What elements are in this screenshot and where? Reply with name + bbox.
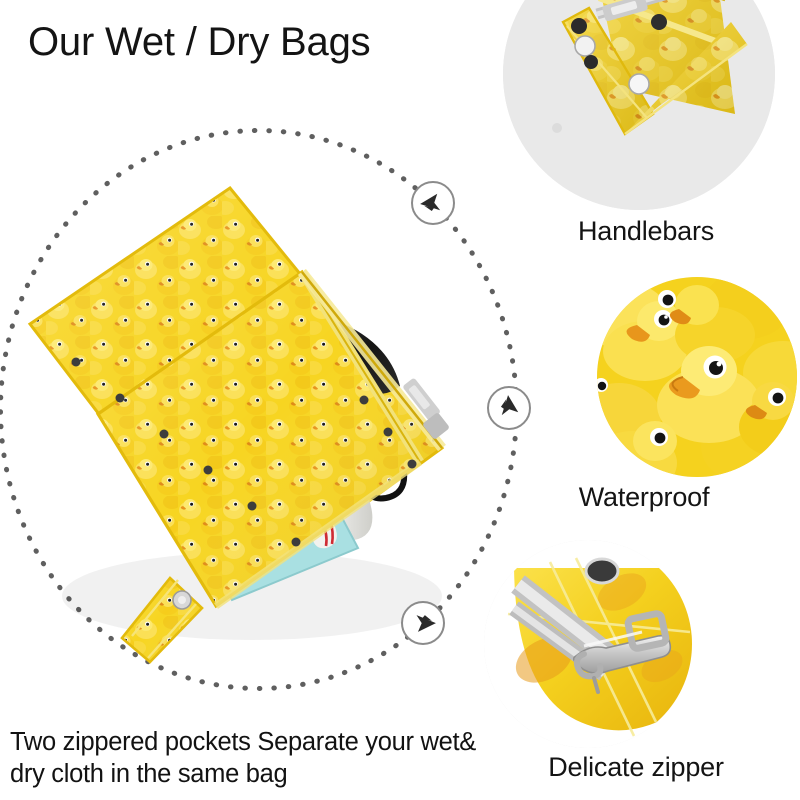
detail-circle-zipper — [484, 540, 692, 748]
grommet — [586, 559, 618, 584]
marker-zipper[interactable] — [401, 601, 445, 645]
hero-caption: Two zippered pockets Separate your wet& … — [10, 726, 510, 790]
detail-circle-waterproof — [597, 277, 797, 477]
product-infographic: Our Wet / Dry Bags — [0, 0, 800, 800]
feature-label-delicate-zipper: Delicate zipper — [502, 752, 770, 783]
cursor-arrow-icon — [420, 189, 447, 215]
cursor-arrow-icon — [409, 610, 436, 637]
product-hero-image — [2, 176, 458, 664]
marker-handlebars[interactable] — [411, 181, 455, 225]
feature-label-handlebars: Handlebars — [531, 216, 761, 247]
page-title: Our Wet / Dry Bags — [28, 20, 370, 65]
marker-waterproof[interactable] — [487, 386, 531, 430]
detail-circle-handlebars — [503, 0, 775, 210]
cursor-arrow-icon — [497, 395, 523, 422]
feature-label-waterproof: Waterproof — [526, 482, 762, 513]
